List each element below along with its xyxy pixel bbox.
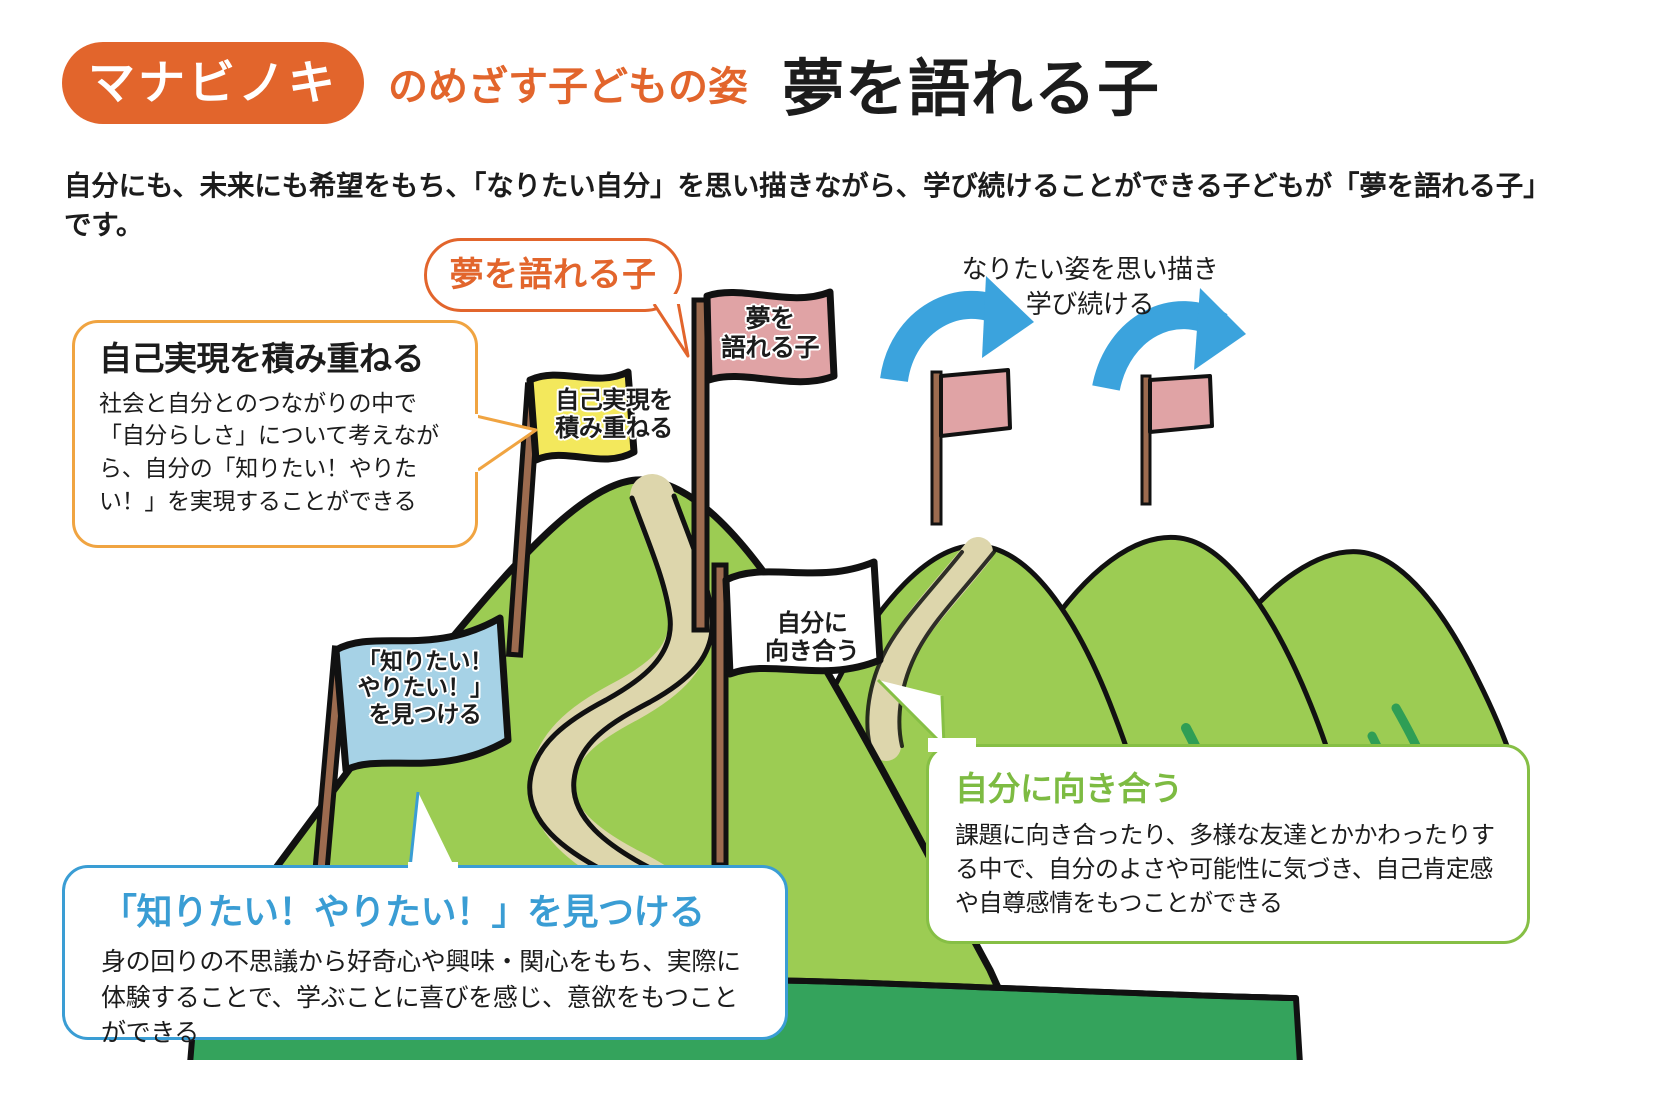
- flag-label-self-l2: 積み重ねる: [555, 415, 673, 442]
- flag-label-face-l2: 向き合う: [765, 638, 859, 665]
- callout-face-tail: [872, 676, 992, 772]
- flag-label-face-yourself: 自分に 向き合う: [752, 610, 872, 665]
- callout-self-title: 自己実現を積み重ねる: [99, 339, 455, 379]
- flag-label-dream: 夢を 語れる子: [700, 305, 840, 363]
- flag-label-find-l3: を見つける: [369, 701, 482, 727]
- callout-find-body: 身の回りの不思議から好奇心や興味・関心をもち、実際に体験することで、学ぶことに喜…: [101, 945, 759, 1052]
- callout-find-curiosity: 「知りたい！やりたい！」を見つける 身の回りの不思議から好奇心や興味・関心をもち…: [62, 865, 788, 1040]
- callout-self-body: 社会と自分とのつながりの中で「自分らしさ」について考えながら、自分の「知りたい！…: [99, 387, 455, 518]
- page-header: マナビノキ のめざす子どもの姿 夢を語れる子: [62, 30, 1602, 135]
- flag-label-find-curiosity: 「知りたい！ やりたい！」 を見つける: [352, 648, 498, 727]
- flag-label-self-l1: 自己実現を: [555, 387, 673, 414]
- callout-self-tail: [470, 404, 570, 514]
- arrow-caption-line2: 学び続ける: [930, 287, 1250, 322]
- callout-face-title: 自分に向き合う: [955, 769, 1505, 809]
- callout-dream-title: 夢を語れる子: [450, 255, 657, 296]
- header-subtitle: のめざす子どもの姿: [388, 54, 748, 112]
- page-title: 夢を語れる子: [782, 38, 1160, 128]
- flag-label-dream-l1: 夢を: [745, 305, 794, 333]
- flag-label-dream-l2: 語れる子: [721, 334, 819, 362]
- callout-face-yourself: 自分に向き合う 課題に向き合ったり、多様な友達とかかわったりする中で、自分のよさ…: [926, 744, 1530, 944]
- arrow-caption: なりたい姿を思い描き 学び続ける: [930, 252, 1250, 322]
- flag-hill-middle-right: [1142, 376, 1212, 504]
- brand-logo-badge: マナビノキ: [62, 42, 364, 124]
- callout-face-body: 課題に向き合ったり、多様な友達とかかわったりする中で、自分のよさや可能性に気づき…: [955, 819, 1505, 921]
- flag-label-find-l2: やりたい！」: [358, 674, 493, 700]
- callout-find-tail: [392, 790, 512, 880]
- infographic-page: マナビノキ のめざす子どもの姿 夢を語れる子 自分にも、未来にも希望をもち、「な…: [0, 0, 1654, 1113]
- brand-logo-text: マナビノキ: [88, 59, 338, 106]
- flag-label-face-l1: 自分に: [777, 610, 848, 637]
- callout-find-title: 「知りたい！やりたい！」を見つける: [101, 890, 759, 933]
- arrow-caption-line1: なりたい姿を思い描き: [930, 252, 1250, 287]
- flag-hill-near-right: [932, 370, 1010, 524]
- flag-label-find-l1: 「知りたい！: [358, 648, 493, 674]
- callout-self-actualization: 自己実現を積み重ねる 社会と自分とのつながりの中で「自分らしさ」について考えなが…: [72, 320, 478, 548]
- callout-dream-tail: [630, 300, 720, 366]
